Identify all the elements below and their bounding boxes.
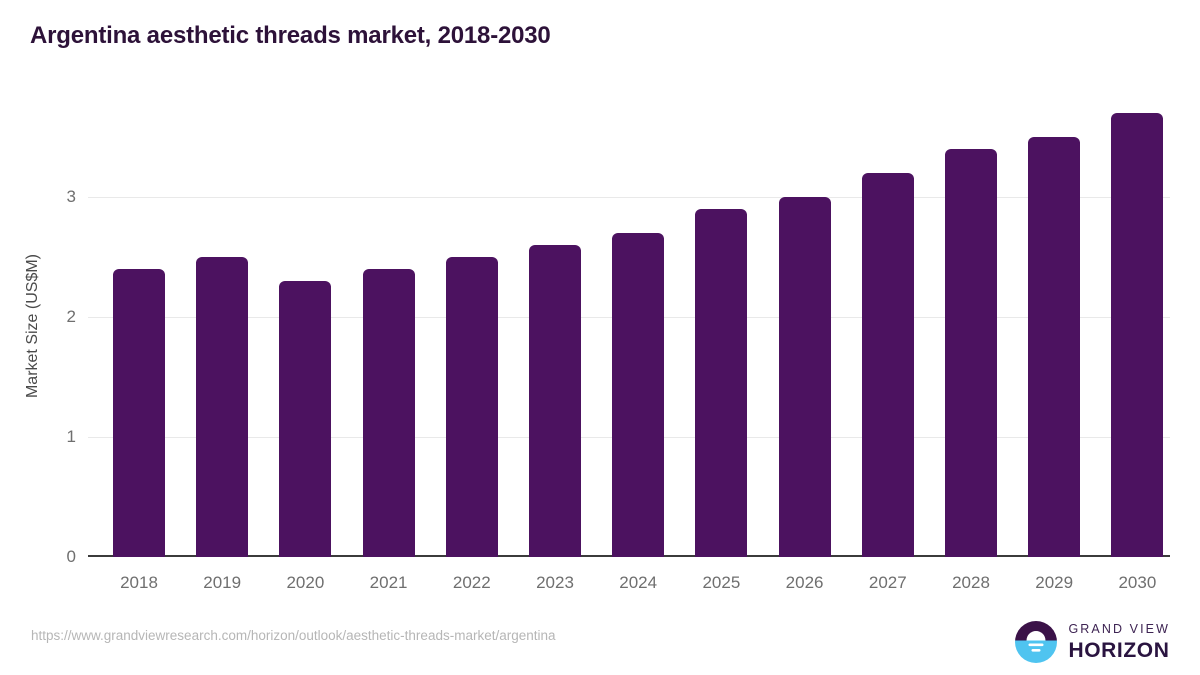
y-axis-title: Market Size (US$M) (24, 254, 42, 398)
brand-logo-line2: HORIZON (1068, 640, 1170, 661)
x-axis-tick-label: 2026 (779, 573, 831, 593)
source-url[interactable]: https://www.grandviewresearch.com/horizo… (31, 628, 556, 643)
bar[interactable] (1111, 113, 1163, 557)
x-axis-tick-label: 2019 (196, 573, 248, 593)
bar-group[interactable]: 2026 (779, 95, 831, 557)
x-axis-tick-label: 2022 (446, 573, 498, 593)
bar-group[interactable]: 2020 (279, 95, 331, 557)
plot-area: 2018201920202021202220232024202520262027… (88, 95, 1170, 557)
y-axis-tick-label: 0 (16, 547, 76, 567)
x-axis-tick-label: 2030 (1111, 573, 1163, 593)
bar-group[interactable]: 2024 (612, 95, 664, 557)
bar-group[interactable]: 2019 (196, 95, 248, 557)
bar[interactable] (695, 209, 747, 557)
x-axis-tick-label: 2025 (695, 573, 747, 593)
x-axis-tick-label: 2021 (363, 573, 415, 593)
horizon-sun-circle-icon (1014, 620, 1058, 664)
bar[interactable] (529, 245, 581, 557)
bar-group[interactable]: 2028 (945, 95, 997, 557)
x-axis-tick-label: 2029 (1028, 573, 1080, 593)
bar-group[interactable]: 2027 (862, 95, 914, 557)
bar[interactable] (612, 233, 664, 557)
x-axis-tick-label: 2018 (113, 573, 165, 593)
chart-canvas: Argentina aesthetic threads market, 2018… (0, 0, 1200, 675)
bar-group[interactable]: 2029 (1028, 95, 1080, 557)
bar-series: 2018201920202021202220232024202520262027… (88, 95, 1170, 557)
bar[interactable] (862, 173, 914, 557)
bar[interactable] (779, 197, 831, 557)
bar-group[interactable]: 2022 (446, 95, 498, 557)
bar[interactable] (279, 281, 331, 557)
x-axis-tick-label: 2024 (612, 573, 664, 593)
y-axis-tick-label: 3 (16, 187, 76, 207)
bar-group[interactable]: 2023 (529, 95, 581, 557)
x-axis-tick-label: 2028 (945, 573, 997, 593)
bar-group[interactable]: 2030 (1111, 95, 1163, 557)
bar[interactable] (113, 269, 165, 557)
bar-group[interactable]: 2021 (363, 95, 415, 557)
x-axis-tick-label: 2020 (279, 573, 331, 593)
y-axis-tick-label: 1 (16, 427, 76, 447)
bar-group[interactable]: 2018 (113, 95, 165, 557)
page-title: Argentina aesthetic threads market, 2018… (30, 22, 551, 50)
bar-group[interactable]: 2025 (695, 95, 747, 557)
bar[interactable] (446, 257, 498, 557)
bar[interactable] (363, 269, 415, 557)
brand-logo-line1: GRAND VIEW (1068, 623, 1170, 636)
brand-logo-text: GRAND VIEW HORIZON (1068, 623, 1170, 661)
bar[interactable] (1028, 137, 1080, 557)
x-axis-tick-label: 2027 (862, 573, 914, 593)
bar[interactable] (196, 257, 248, 557)
bar[interactable] (945, 149, 997, 557)
brand-logo: GRAND VIEW HORIZON (1014, 620, 1170, 664)
x-axis-tick-label: 2023 (529, 573, 581, 593)
